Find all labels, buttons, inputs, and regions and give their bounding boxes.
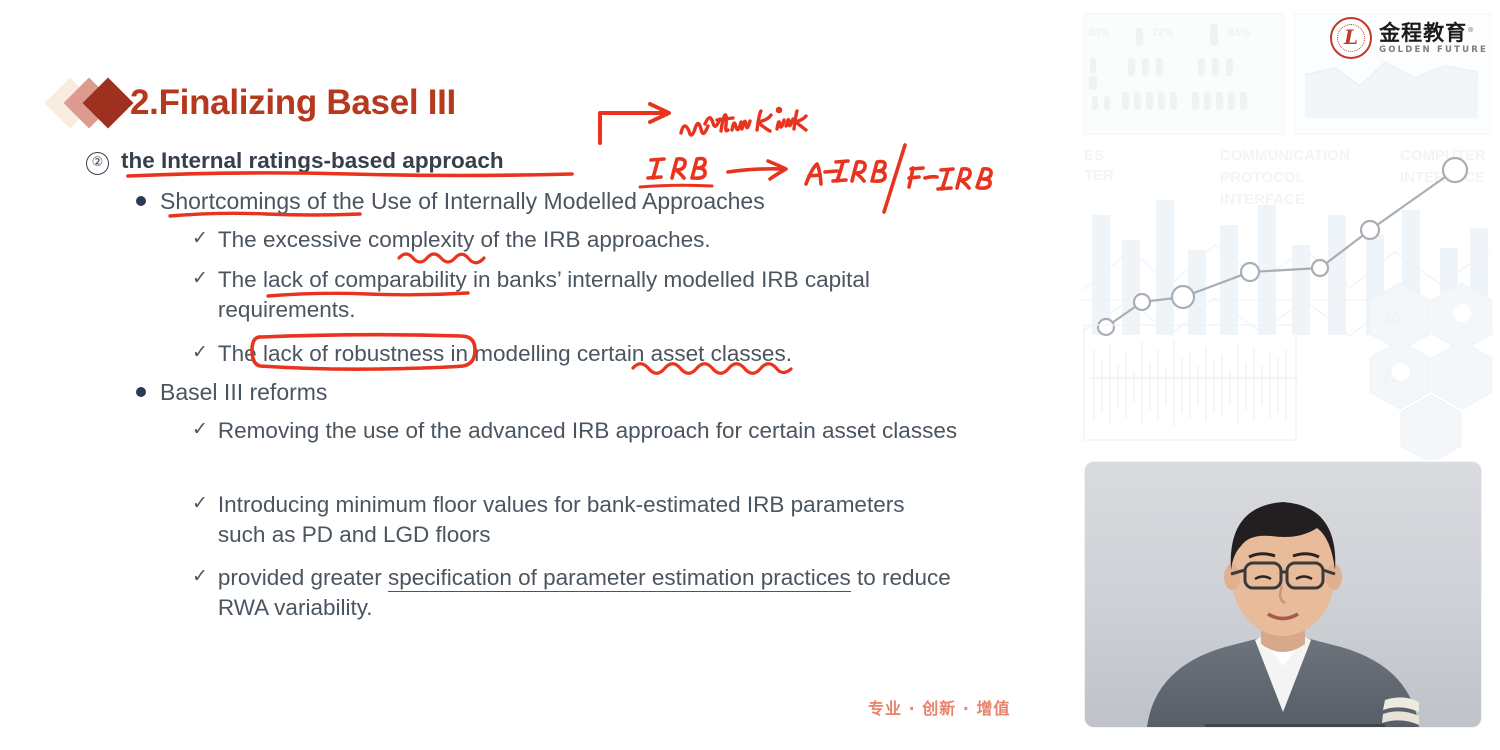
- airb-note: [806, 161, 885, 184]
- svg-text:40%: 40%: [1088, 27, 1110, 39]
- squiggle-complexity: [399, 254, 484, 263]
- right-side-panel: 40%72%84% ES TER COMMUNICATION PROTOCOL …: [1070, 0, 1500, 750]
- check-icon: ✓: [192, 227, 208, 249]
- section-heading: ② the Internal ratings-based approach: [86, 148, 504, 177]
- check-icon: ✓: [192, 418, 208, 440]
- svg-text:84%: 84%: [1228, 27, 1250, 39]
- check-icon: ✓: [192, 492, 208, 514]
- list-item: ✓ Introducing minimum floor values for b…: [192, 490, 952, 550]
- brand-name-en: GOLDEN FUTURE: [1379, 44, 1488, 56]
- firb-note: [909, 168, 991, 189]
- background-watermark-graphic: 40%72%84% ES TER COMMUNICATION PROTOCOL …: [1070, 0, 1500, 460]
- circled-number-icon: ②: [86, 152, 109, 175]
- sub-bullet-text: provided greater specification of parame…: [218, 563, 1002, 623]
- list-item: ✓ The lack of robustness in modelling ce…: [192, 339, 1012, 369]
- list-item: ✓ Removing the use of the advanced IRB a…: [192, 416, 992, 446]
- footer-slogan: 专业 · 创新 · 增值: [868, 695, 1010, 719]
- check-icon: ✓: [192, 267, 208, 289]
- logo-seal-icon: L: [1330, 17, 1372, 59]
- svg-text:72%: 72%: [1152, 27, 1174, 39]
- check-icon: ✓: [192, 341, 208, 363]
- list-item: ✓ The excessive complexity of the IRB ap…: [192, 225, 1012, 255]
- svg-text:TER: TER: [1084, 167, 1114, 184]
- sub-bullet-text: Introducing minimum floor values for ban…: [218, 490, 952, 550]
- registered-mark: ®: [1467, 26, 1475, 34]
- slide-content-area: 2.Finalizing Basel III ② the Internal ra…: [0, 0, 1070, 750]
- diamond-decoration-icon: [52, 77, 130, 129]
- list-item: ✓ provided greater specification of para…: [192, 563, 1002, 623]
- sub-bullet-lead: provided greater: [218, 565, 388, 590]
- irb-note: [640, 159, 712, 188]
- page-title: 2.Finalizing Basel III: [130, 83, 456, 123]
- sub-bullet-text: The lack of comparability in banks’ inte…: [218, 265, 992, 325]
- logo-monogram: L: [1332, 26, 1370, 48]
- bullet-label: Shortcomings of the Use of Internally Mo…: [160, 187, 765, 216]
- list-item: Basel III reforms: [136, 378, 327, 407]
- svg-text:ES: ES: [1084, 147, 1104, 164]
- brand-name-cn: 金程教育®: [1379, 20, 1488, 44]
- presenter-webcam-video[interactable]: [1085, 462, 1481, 727]
- bullet-label: Basel III reforms: [160, 378, 327, 407]
- svg-text:COMPUTER: COMPUTER: [1400, 147, 1486, 164]
- sub-bullet-underlined-phrase: specification of parameter estimation pr…: [388, 565, 851, 592]
- sub-bullet-text: The excessive complexity of the IRB appr…: [218, 225, 711, 255]
- credit-risk-note: [681, 108, 806, 135]
- arrow-to-credit-risk-icon: [600, 104, 669, 143]
- svg-text:40: 40: [1382, 310, 1401, 329]
- sub-bullet-text: The lack of robustness in modelling cert…: [218, 339, 792, 369]
- list-item: Shortcomings of the Use of Internally Mo…: [136, 187, 765, 216]
- svg-text:PROTOCOL: PROTOCOL: [1220, 169, 1305, 186]
- bullet-dot-icon: [136, 196, 146, 206]
- irb-arrow-icon: [728, 161, 786, 179]
- brand-logo: L 金程教育® GOLDEN FUTURE: [1330, 16, 1488, 60]
- bullet-dot-icon: [136, 387, 146, 397]
- check-icon: ✓: [192, 565, 208, 587]
- slide-title-row: 2.Finalizing Basel III: [52, 74, 456, 132]
- sub-bullet-text: Removing the use of the advanced IRB app…: [218, 416, 957, 446]
- lecture-slide-screen: 2.Finalizing Basel III ② the Internal ra…: [0, 0, 1500, 750]
- brand-text: 金程教育® GOLDEN FUTURE: [1379, 20, 1488, 56]
- svg-text:COMMUNICATION: COMMUNICATION: [1220, 147, 1350, 164]
- slash-separator: [884, 145, 905, 212]
- list-item: ✓ The lack of comparability in banks’ in…: [192, 265, 992, 325]
- section-heading-text: the Internal ratings-based approach: [121, 148, 504, 174]
